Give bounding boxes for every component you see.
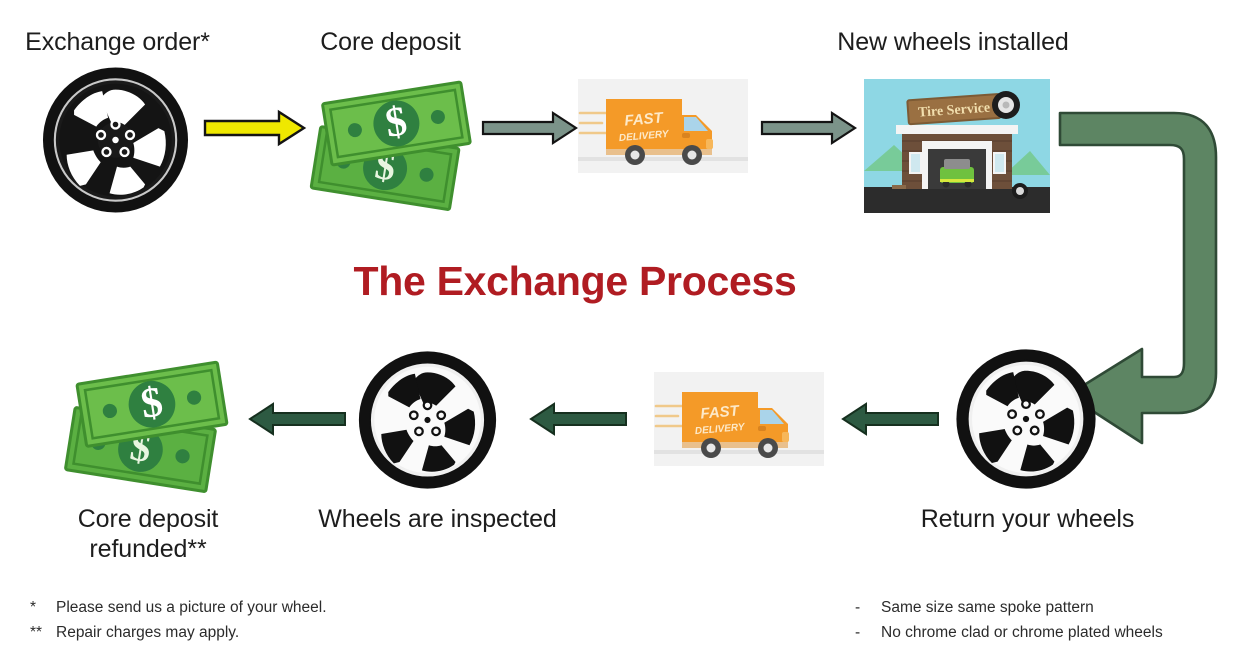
footnote-mark: * [30,595,56,620]
footnote-left-item: * Please send us a picture of your wheel… [30,595,450,620]
money-bottom-icon: $ $ [58,352,238,490]
footnote-text: Repair charges may apply. [56,620,239,645]
svg-text:FAST: FAST [700,402,742,422]
footnote-text: No chrome clad or chrome plated wheels [881,620,1163,645]
delivery-truck-bottom-icon: FAST DELIVERY [654,372,824,466]
label-return-your-wheels: Return your wheels [900,505,1155,535]
diagram-title: The Exchange Process [275,258,875,305]
footnote-mark: - [855,595,881,620]
arrow-inspected-to-refund-icon [247,402,347,436]
label-new-wheels-installed: New wheels installed [818,28,1088,58]
footnote-mark: - [855,620,881,645]
tire-service-shop-image: Tire Service [864,79,1050,213]
wheel-light-icon [356,350,499,490]
wheel-return-icon [955,348,1097,490]
svg-text:FAST: FAST [624,109,666,129]
label-core-deposit: Core deposit [283,28,498,58]
arrow-shipping-to-inspected-icon [528,402,628,436]
label-exchange-order: Exchange order* [10,28,225,58]
money-top-icon: $ $ [305,72,480,208]
footnote-text: Same size same spoke pattern [881,595,1094,620]
label-wheels-are-inspected: Wheels are inspected [300,505,575,535]
footnotes-right: - Same size same spoke pattern - No chro… [855,595,1245,645]
footnote-left-item: ** Repair charges may apply. [30,620,450,645]
footnote-text: Please send us a picture of your wheel. [56,595,327,620]
delivery-truck-top-icon: FAST DELIVERY [578,79,748,173]
footnotes-left: * Please send us a picture of your wheel… [30,595,450,645]
label-core-deposit-refunded: Core deposit refunded** [28,505,268,564]
footnote-right-item: - Same size same spoke pattern [855,595,1245,620]
wheel-dark-icon [38,66,193,214]
arrow-deposit-to-shipping-icon [481,110,579,146]
arrow-return-to-shipping-icon [840,402,940,436]
arrow-shipping-to-install-icon [760,110,858,146]
footnote-mark: ** [30,620,56,645]
exchange-process-diagram: Exchange order* Core deposit New wheels … [0,0,1250,666]
arrow-exchange-to-deposit-icon [203,109,307,147]
footnote-right-item: - No chrome clad or chrome plated wheels [855,620,1245,645]
